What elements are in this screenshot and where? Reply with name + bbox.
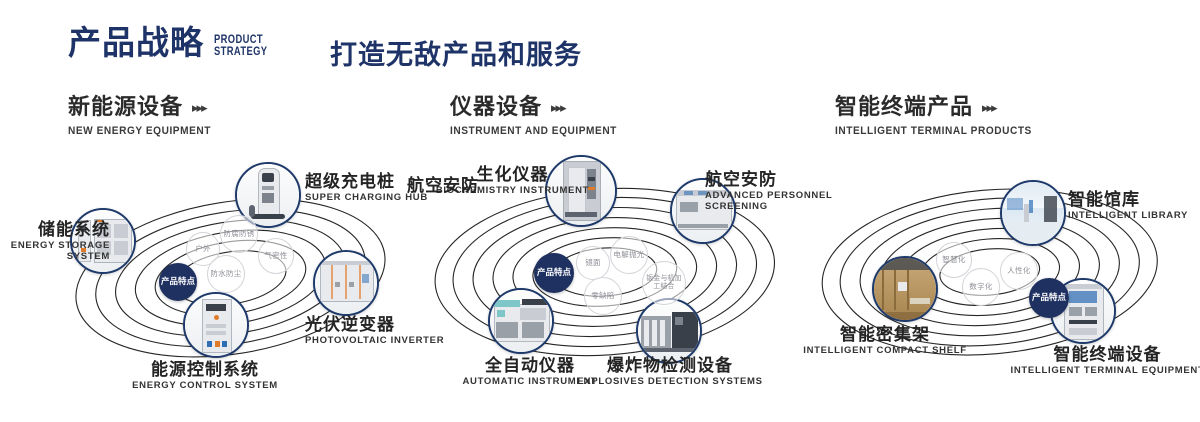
label-energy-control: 能源控制系统 ENERGY CONTROL SYSTEM (80, 360, 330, 392)
cluster-intelligent-terminal: 智能馆库 INTELLIGENT LIBRARY 智能密集架 INTELLIGE… (810, 160, 1170, 390)
node-pv-inverter[interactable] (313, 250, 379, 316)
feature-label: 户外 (195, 245, 211, 253)
section-heading-cn: 仪器设备 ▸▸▸ (450, 96, 631, 118)
label-self-service-kiosk: 智能终端设备 INTELLIGENT TERMINAL EQUIPMENT (990, 345, 1200, 377)
node-compact-shelf[interactable] (872, 256, 938, 322)
section-heading-new-energy: 新能源设备 ▸▸▸ NEW ENERGY EQUIPMENT (68, 96, 223, 137)
feature-label: 零缺陷 (591, 292, 614, 300)
label-cn: 能源控制系统 (80, 360, 330, 379)
node-explosives-detector[interactable] (636, 298, 702, 364)
feature-bubble-humanized[interactable]: 人性化 (1000, 252, 1038, 290)
feature-label: 防腐防锈 (223, 230, 254, 238)
label-compact-shelf: 智能密集架 INTELLIGENT COMPACT SHELF (785, 325, 985, 357)
core-bubble-label: 产品特点 (537, 268, 571, 278)
page-title: 产品战略 PRODUCT STRATEGY (68, 26, 282, 59)
core-bubble-label: 产品特点 (1032, 293, 1066, 303)
label-aviation-security-left: 航空安防 (407, 176, 507, 195)
compact-shelf-icon (874, 258, 936, 320)
feature-bubble-electropolishing[interactable]: 电解抛光 (610, 236, 648, 274)
label-en: INTELLIGENT TERMINAL EQUIPMENT (990, 366, 1200, 377)
section-heading-instrument: 仪器设备 ▸▸▸ INSTRUMENT AND EQUIPMENT (450, 96, 631, 137)
core-bubble-product-features[interactable]: 产品特点 (159, 263, 197, 301)
feature-label: 防水防尘 (210, 270, 241, 278)
feature-bubble-sheetmetal-machining[interactable]: 钣金与机加工结合 (642, 261, 686, 305)
page-title-cn: 产品战略 (68, 26, 204, 59)
page-title-en: PRODUCT STRATEGY (214, 33, 267, 57)
node-energy-control[interactable] (183, 292, 249, 358)
label-energy-storage: 储能系统 ENERGY STORAGE SYSTEM (0, 220, 110, 262)
core-bubble-product-features[interactable]: 产品特点 (534, 253, 574, 293)
label-cn: 爆炸物检测设备 (555, 356, 785, 375)
cluster-new-energy: 储能系统 ENERGY STORAGE SYSTEM 超级充电桩 SUPER C… (55, 160, 405, 390)
core-bubble-product-features[interactable]: 产品特点 (1029, 278, 1069, 318)
section-heading-en: INSTRUMENT AND EQUIPMENT (450, 125, 617, 137)
feature-label: 数字化 (969, 283, 992, 291)
label-cn: 智能终端设备 (990, 345, 1200, 364)
label-cn: 航空安防 (407, 176, 507, 195)
section-heading-en: INTELLIGENT TERMINAL PRODUCTS (835, 125, 1032, 137)
page-subtitle: 打造无敌产品和服务 (330, 33, 582, 72)
label-en: INTELLIGENT COMPACT SHELF (785, 346, 985, 357)
section-title-text: 仪器设备 (450, 96, 542, 118)
feature-bubble-zero-defect[interactable]: 零缺陷 (584, 277, 622, 315)
feature-label: 气密性 (264, 252, 287, 260)
label-en: ENERGY CONTROL SYSTEM (80, 381, 330, 392)
section-heading-en: NEW ENERGY EQUIPMENT (68, 125, 211, 137)
feature-bubble-mirror[interactable]: 镜面 (576, 246, 610, 280)
automatic-instrument-icon (490, 290, 552, 352)
section-title-text: 新能源设备 (68, 96, 183, 118)
section-title-text: 智能终端产品 (835, 96, 973, 118)
feature-label: 镜面 (585, 259, 601, 267)
poster-canvas: 产品战略 PRODUCT STRATEGY 打造无敌产品和服务 新能源设备 ▸▸… (0, 0, 1200, 422)
cluster-instrument: 生化仪器 BIOCHEMISTRY INSTRUMENT 航空安防 航空安防 A… (420, 160, 790, 390)
node-smart-library[interactable] (1000, 180, 1066, 246)
label-en: INTELLIGENT LIBRARY (1068, 211, 1200, 222)
pv-inverter-icon (315, 252, 377, 314)
feature-bubble-anticorrosion[interactable]: 防腐防锈 (220, 215, 258, 253)
label-en: EXPLOSIVES DETECTION SYSTEMS (555, 377, 785, 388)
feature-label: 电解抛光 (613, 251, 644, 259)
feature-label: 钣金与机加工结合 (643, 275, 685, 290)
label-en: ENERGY STORAGE SYSTEM (0, 241, 110, 262)
feature-bubble-digital[interactable]: 数字化 (962, 268, 1000, 306)
section-heading-cn: 智能终端产品 ▸▸▸ (835, 96, 1049, 118)
section-heading-cn: 新能源设备 ▸▸▸ (68, 96, 223, 118)
chevron-right-icon: ▸▸▸ (192, 101, 206, 114)
chevron-right-icon: ▸▸▸ (982, 101, 996, 114)
node-automatic-instrument[interactable] (488, 288, 554, 354)
feature-label: 智慧化 (942, 256, 965, 264)
section-heading-intelligent-terminal: 智能终端产品 ▸▸▸ INTELLIGENT TERMINAL PRODUCTS (835, 96, 1049, 137)
feature-bubble-waterproof[interactable]: 防水防尘 (207, 255, 245, 293)
feature-bubble-airtight[interactable]: 气密性 (258, 238, 294, 274)
label-cn: 储能系统 (0, 220, 110, 239)
chevron-right-icon: ▸▸▸ (551, 101, 565, 114)
label-cn: 智能馆库 (1068, 190, 1200, 209)
label-explosives-detector: 爆炸物检测设备 EXPLOSIVES DETECTION SYSTEMS (555, 356, 785, 388)
smart-library-icon (1002, 182, 1064, 244)
core-bubble-label: 产品特点 (161, 277, 195, 287)
explosives-detector-icon (638, 300, 700, 362)
control-cabinet-icon (185, 294, 247, 356)
label-smart-library: 智能馆库 INTELLIGENT LIBRARY (1068, 190, 1200, 222)
label-cn: 智能密集架 (785, 325, 985, 344)
feature-label: 人性化 (1007, 267, 1030, 275)
